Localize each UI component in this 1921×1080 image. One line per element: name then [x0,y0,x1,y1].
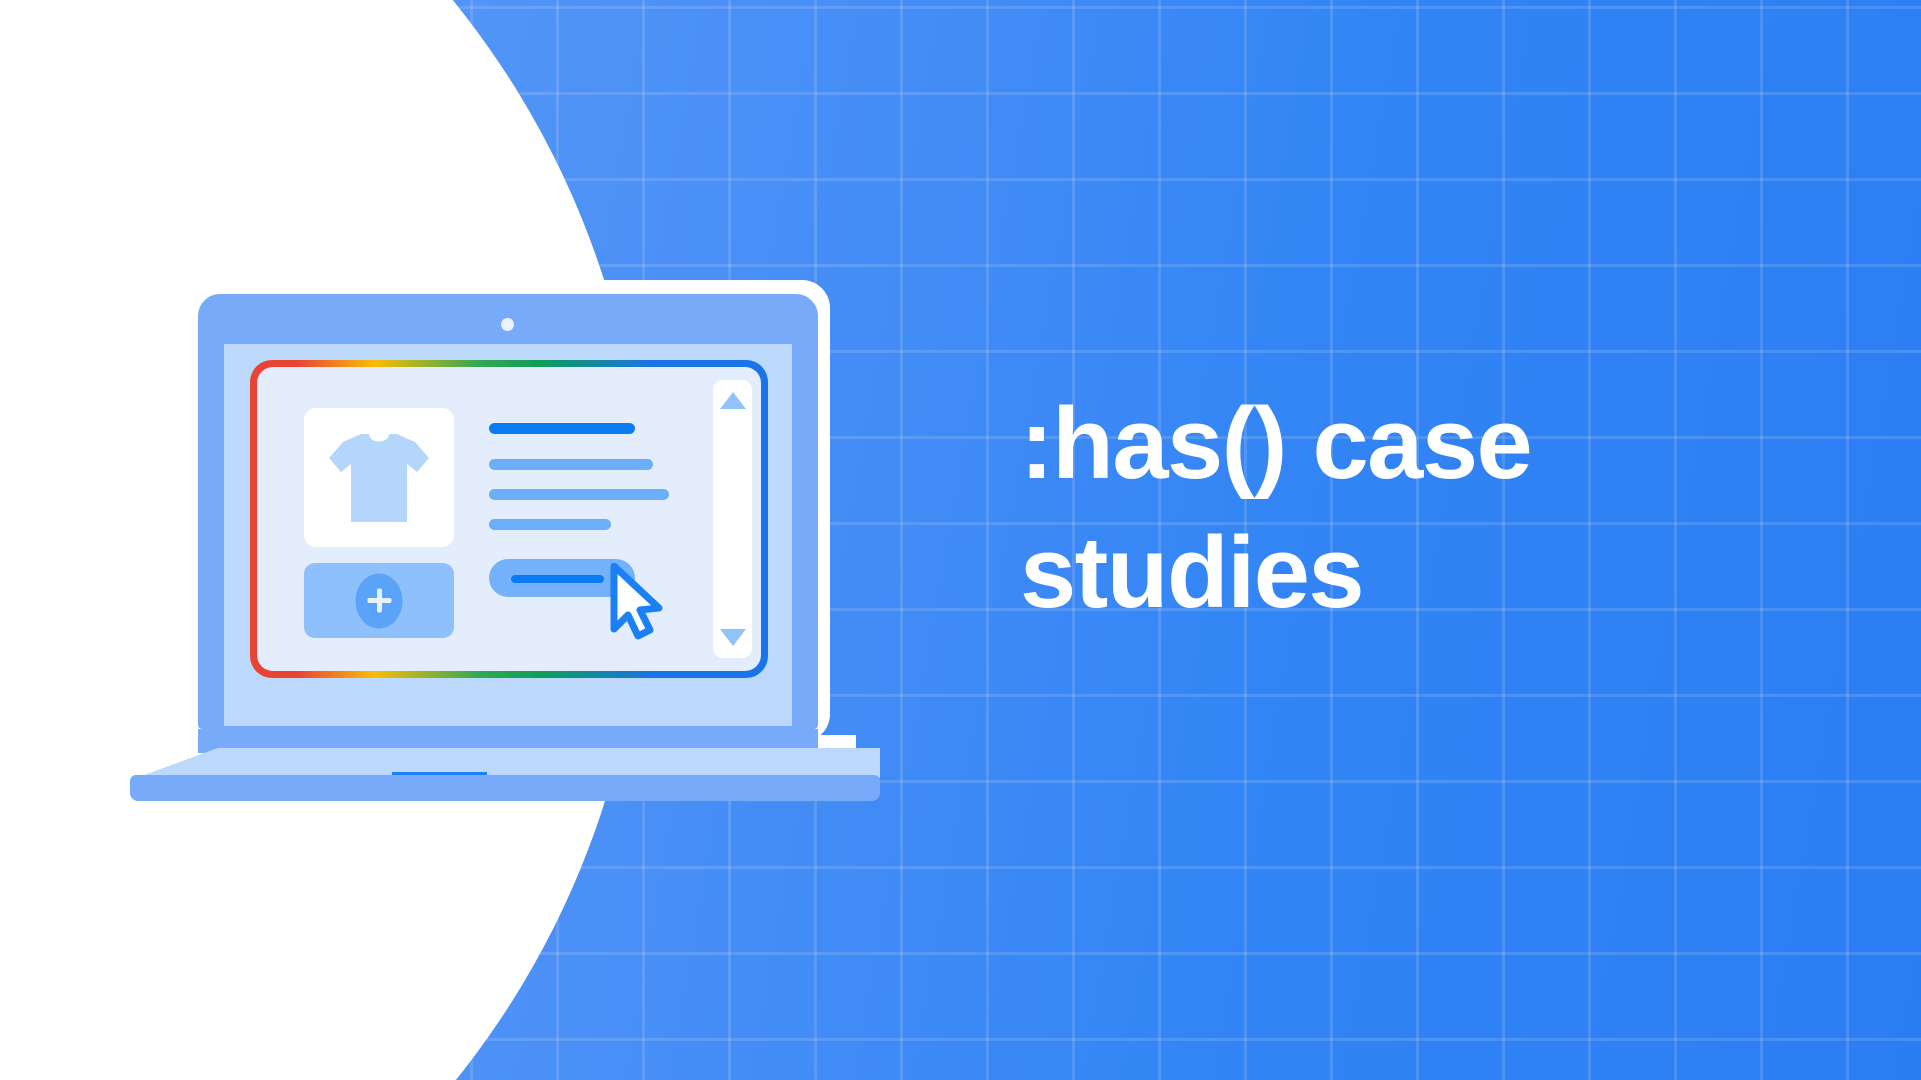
tshirt-icon [327,432,431,524]
description-line-3 [489,519,611,530]
webcam-icon [501,318,514,331]
laptop-base [130,775,880,801]
plus-icon-vertical [377,589,382,613]
browser-screen [257,367,761,671]
laptop-base-top [136,748,880,778]
vertical-scrollbar[interactable] [713,380,752,658]
product-image-tile[interactable] [304,408,454,547]
description-line-1 [489,459,653,470]
scroll-down-arrow-icon[interactable] [720,629,746,646]
laptop-bezel [224,344,792,726]
laptop-lid [198,294,818,729]
product-title-line [489,423,635,434]
rainbow-focus-ring [250,360,768,678]
add-circle [356,573,403,628]
scroll-up-arrow-icon[interactable] [720,392,746,409]
slide-canvas: :has() case studies [0,0,1921,1080]
page-title: :has() case studies [1020,380,1780,639]
laptop-illustration [130,280,910,780]
add-to-cart-tile[interactable] [304,563,454,638]
mouse-pointer-icon [609,563,669,641]
buy-now-button-label [511,575,604,583]
description-line-2 [489,489,669,500]
